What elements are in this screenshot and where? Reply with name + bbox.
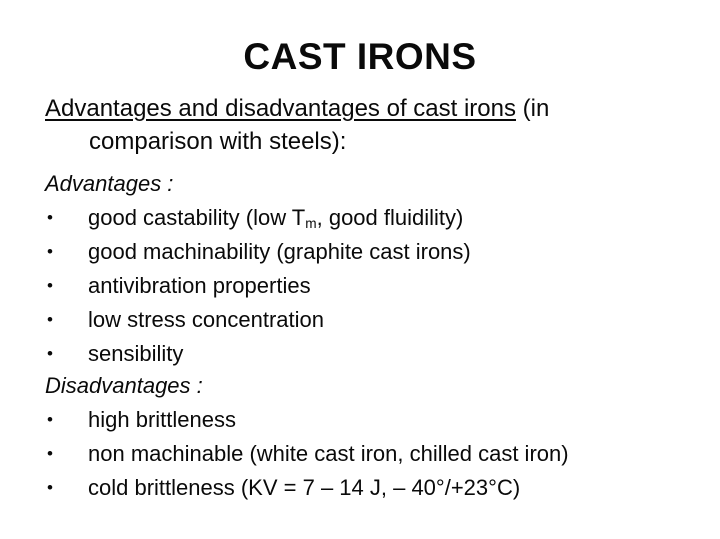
- list-item-text-prefix: antivibration properties: [88, 273, 311, 298]
- list-item-label: antivibration properties: [88, 273, 311, 298]
- subtitle-block: Advantages and disadvantages of cast iro…: [45, 92, 685, 158]
- list-item-subscript: m: [305, 216, 316, 231]
- list-item: • antivibration properties: [45, 269, 471, 303]
- list-item-text-prefix: high brittleness: [88, 407, 236, 432]
- list-item: • sensibility: [45, 337, 471, 371]
- bullet-point-icon: •: [47, 471, 59, 505]
- list-item-text-prefix: low stress concentration: [88, 307, 324, 332]
- advantages-list: • good castability (low Tm, good fluidil…: [45, 201, 471, 371]
- list-item: • low stress concentration: [45, 303, 471, 337]
- list-item-text-prefix: cold brittleness (KV = 7 – 14 J, – 40°/+…: [88, 475, 520, 500]
- list-item-label: non machinable (white cast iron, chilled…: [88, 441, 569, 466]
- bullet-point-icon: •: [47, 303, 59, 337]
- bullet-point-icon: •: [47, 201, 59, 235]
- list-item-label: good castability (low Tm, good fluidilit…: [88, 205, 463, 230]
- section-heading-advantages: Advantages :: [45, 169, 173, 199]
- list-item-label: high brittleness: [88, 407, 236, 432]
- subtitle-trailing-text: (in: [516, 95, 549, 122]
- disadvantages-list: • high brittleness • non machinable (whi…: [45, 403, 569, 505]
- list-item-text-suffix: , good fluidility): [317, 205, 464, 230]
- subtitle-underlined-text: Advantages and disadvantages of cast iro…: [45, 95, 516, 122]
- list-item: • high brittleness: [45, 403, 569, 437]
- list-item-label: sensibility: [88, 341, 183, 366]
- bullet-point-icon: •: [47, 403, 59, 437]
- list-item: • good machinability (graphite cast iron…: [45, 235, 471, 269]
- list-item-text-prefix: good machinability (graphite cast irons): [88, 239, 471, 264]
- list-item-text-prefix: sensibility: [88, 341, 183, 366]
- list-item-label: low stress concentration: [88, 307, 324, 332]
- section-heading-disadvantages: Disadvantages :: [45, 371, 203, 401]
- bullet-point-icon: •: [47, 269, 59, 303]
- bullet-point-icon: •: [47, 235, 59, 269]
- list-item-label: good machinability (graphite cast irons): [88, 239, 471, 264]
- bullet-point-icon: •: [47, 337, 59, 371]
- list-item: • cold brittleness (KV = 7 – 14 J, – 40°…: [45, 471, 569, 505]
- bullet-point-icon: •: [47, 437, 59, 471]
- slide-canvas: CAST IRONS Advantages and disadvantages …: [0, 0, 720, 539]
- list-item-text-prefix: good castability (low T: [88, 205, 305, 230]
- list-item-label: cold brittleness (KV = 7 – 14 J, – 40°/+…: [88, 475, 520, 500]
- list-item-text-prefix: non machinable (white cast iron, chilled…: [88, 441, 569, 466]
- list-item: • good castability (low Tm, good fluidil…: [45, 201, 471, 235]
- list-item: • non machinable (white cast iron, chill…: [45, 437, 569, 471]
- page-title: CAST IRONS: [0, 38, 720, 75]
- subtitle-line-1: Advantages and disadvantages of cast iro…: [45, 92, 685, 125]
- subtitle-line-2: comparison with steels):: [45, 125, 685, 158]
